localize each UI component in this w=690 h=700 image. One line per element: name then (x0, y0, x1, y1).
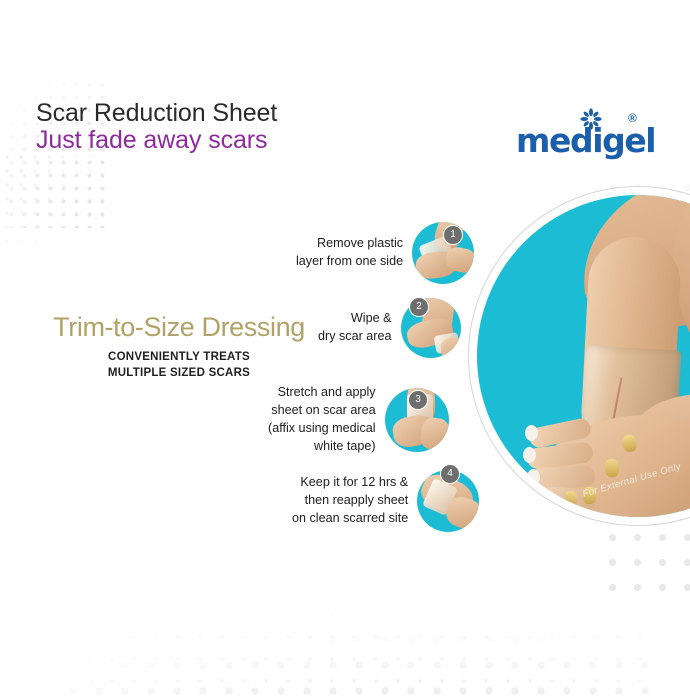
hero-nail-1 (525, 425, 538, 441)
step-4-badge: 4 (440, 464, 460, 484)
instruction-step-4-text: Keep it for 12 hrs & then reapply sheet … (292, 474, 408, 528)
feature-title: Trim-to-Size Dressing (46, 312, 312, 343)
page-tagline: Just fade away scars (36, 127, 277, 154)
brand-logo: medigel ® (516, 108, 646, 160)
feature-caption: CONVENIENTLY TREATS MULTIPLE SIZED SCARS (46, 350, 312, 381)
headline-block: Scar Reduction Sheet Just fade away scar… (36, 100, 277, 154)
hero-image-area: For External Use Only (468, 186, 690, 528)
feature-block: Trim-to-Size Dressing CONVENIENTLY TREAT… (46, 312, 312, 381)
step-2-badge: 2 (409, 297, 429, 317)
hero-ring-4 (565, 491, 577, 507)
brand-name: medigel (516, 121, 655, 160)
step-1-badge: 1 (443, 225, 463, 245)
halftone-dots-top-left-fine (0, 150, 110, 270)
product-poster: Scar Reduction Sheet Just fade away scar… (0, 0, 690, 700)
hero-ring-2 (604, 459, 619, 478)
halftone-dots-bottom-fine (90, 505, 650, 695)
page-title: Scar Reduction Sheet (36, 100, 277, 127)
registered-trademark-symbol: ® (628, 111, 637, 125)
instruction-step-2: Wipe & dry scar area (318, 298, 461, 358)
hero-finger-3 (531, 466, 596, 489)
instruction-step-2-text: Wipe & dry scar area (318, 310, 392, 346)
feature-caption-line-2: MULTIPLE SIZED SCARS (46, 366, 312, 382)
feature-caption-line-1: CONVENIENTLY TREATS (46, 350, 312, 366)
instruction-step-3-text: Stretch and apply sheet on scar area (af… (268, 384, 376, 456)
hero-nail-3 (527, 469, 540, 485)
step-3-badge: 3 (408, 390, 428, 410)
instruction-step-1-text: Remove plastic layer from one side (296, 235, 403, 271)
hero-nail-2 (523, 447, 536, 463)
